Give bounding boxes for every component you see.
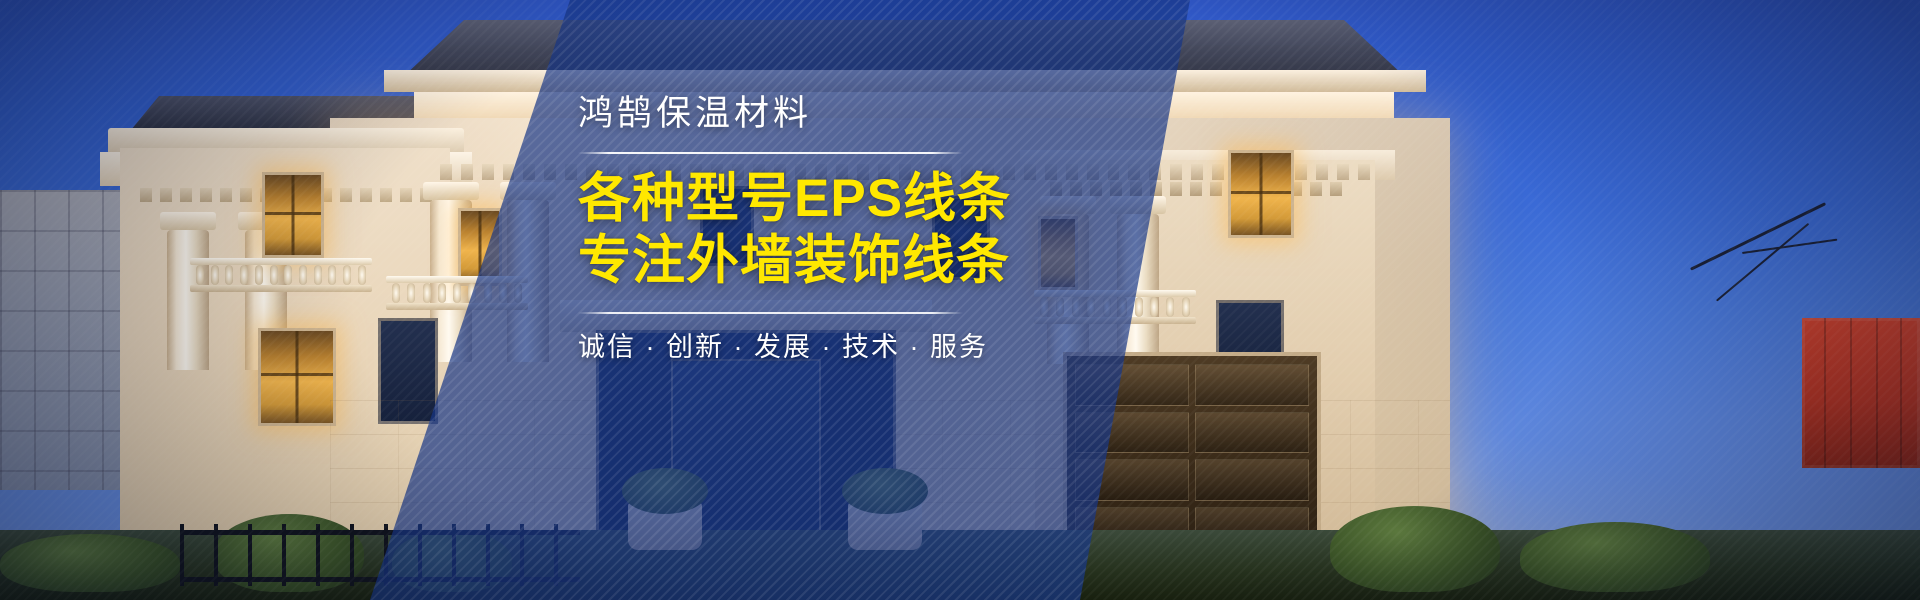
promo-banner: 鸿鹄保温材料 各种型号EPS线条 专注外墙装饰线条 诚信 · 创新 · 发展 ·… bbox=[0, 0, 1920, 600]
banner-copy-block: 鸿鹄保温材料 各种型号EPS线条 专注外墙装饰线条 诚信 · 创新 · 发展 ·… bbox=[578, 92, 1058, 365]
column-capital-5 bbox=[160, 212, 216, 230]
shrub-4 bbox=[1520, 522, 1710, 592]
divider-bottom bbox=[578, 312, 963, 314]
tree-branch-2 bbox=[1742, 239, 1837, 254]
brand-name: 鸿鹄保温材料 bbox=[578, 92, 1058, 136]
divider-top bbox=[578, 152, 963, 154]
window-lit-5 bbox=[258, 328, 336, 426]
shrub-5 bbox=[0, 534, 180, 592]
headline-line-1: 各种型号EPS线条 bbox=[578, 168, 1058, 230]
column-capital-1 bbox=[423, 182, 479, 200]
tree-branch-1 bbox=[1690, 202, 1826, 270]
shrub-3 bbox=[1330, 506, 1500, 592]
window-lit-1 bbox=[262, 172, 324, 258]
red-container bbox=[1802, 318, 1920, 468]
headline-line-2: 专注外墙装饰线条 bbox=[578, 230, 1058, 292]
window-lit-3 bbox=[1228, 150, 1294, 238]
balustrade-left bbox=[196, 258, 366, 292]
column-5 bbox=[167, 230, 209, 370]
tagline: 诚信 · 创新 · 发展 · 技术 · 服务 bbox=[578, 330, 1058, 365]
